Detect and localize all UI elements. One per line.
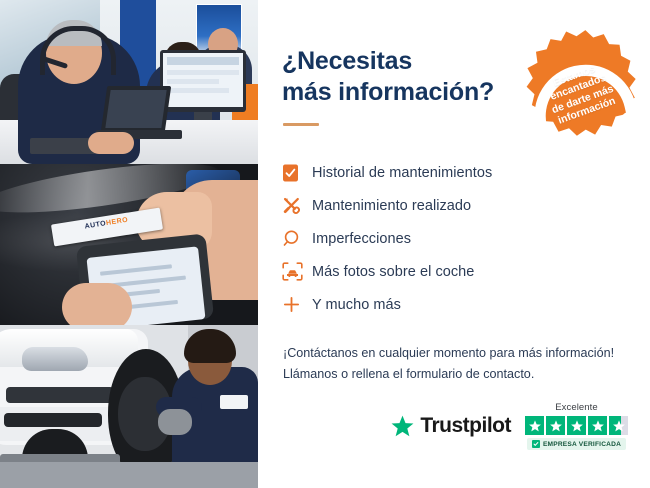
trustpilot-logo: Trustpilot (390, 414, 511, 439)
ruler-brand-auto: AUTO (84, 220, 107, 230)
agent-hand (88, 132, 134, 154)
feature-item-much-more: Y mucho más (282, 288, 624, 321)
contact-paragraph: ¡Contáctanos en cualquier momento para m… (283, 343, 624, 385)
workbench (0, 462, 258, 488)
feature-item-more-photos: Más fotos sobre el coche (282, 255, 624, 288)
monitor-screen-row (167, 79, 219, 84)
photo-call-center (0, 0, 258, 164)
feature-label: Historial de mantenimientos (312, 165, 492, 181)
feature-label: Mantenimiento realizado (312, 198, 471, 214)
front-grille (6, 387, 114, 403)
ruler-brand-hero: HERO (106, 217, 129, 227)
contact-paragraph-line-1: ¡Contáctanos en cualquier momento para m… (283, 346, 614, 360)
check-square-icon (532, 440, 540, 448)
promo-starburst-badge: Estamos encantados de darte más informac… (508, 16, 650, 158)
photo-body-inspection: AUTOHERO (0, 164, 258, 325)
star-filled (588, 416, 607, 435)
feature-label: Imperfecciones (312, 231, 411, 247)
magnifier-icon (282, 229, 312, 248)
feature-item-imperfections: Imperfecciones (282, 222, 624, 255)
monitor-screen-row (167, 70, 239, 75)
monitor-screen-row (167, 88, 229, 93)
star-partial (609, 416, 628, 435)
page-title: ¿Necesitas más información? (282, 46, 532, 107)
photo-collage: AUTOHERO (0, 0, 258, 488)
photo-wheel-inspection: AUTOHERO (0, 325, 258, 488)
star-filled (567, 416, 586, 435)
feature-item-maintenance-done: Mantenimiento realizado (282, 189, 624, 222)
star-filled (546, 416, 565, 435)
verified-badge-label: EMPRESA VERIFICADA (543, 441, 621, 448)
trustpilot-star-icon (390, 414, 415, 439)
bumper-vent (4, 413, 102, 427)
keyboard (30, 138, 96, 154)
contact-paragraph-line-2: Llámanos o rellena el formulario de cont… (283, 367, 534, 381)
feature-list: Historial de mantenimientos Mantenimient… (282, 156, 624, 321)
laptop-display (105, 90, 166, 128)
tools-icon (282, 196, 312, 215)
car-scan-icon (282, 262, 312, 281)
monitor-screen-header (167, 57, 239, 65)
plus-icon (282, 295, 312, 314)
headlight (22, 347, 88, 371)
verified-business-badge: EMPRESA VERIFICADA (527, 438, 626, 450)
headline-line-2: más información? (282, 78, 494, 106)
feature-label: Y mucho más (312, 297, 401, 313)
headline-line-1: ¿Necesitas (282, 47, 412, 75)
document-check-icon (282, 163, 312, 183)
trustpilot-widget[interactable]: Trustpilot Excelente (390, 402, 628, 450)
info-banner: AUTOHERO (0, 0, 650, 488)
feature-label: Más fotos sobre el coche (312, 264, 474, 280)
title-underline-rule (283, 123, 319, 126)
inspector-hand-holding-tablet (62, 283, 132, 325)
technician-glove (158, 409, 192, 435)
uniform-badge: AUTOHERO (220, 395, 248, 409)
star-filled (525, 416, 544, 435)
trustpilot-rating: Excelente (525, 402, 628, 450)
star-rating (525, 416, 628, 435)
content-panel: ¿Necesitas más información? Estamos enca… (258, 0, 650, 488)
rating-label: Excelente (555, 402, 598, 413)
trustpilot-wordmark: Trustpilot (420, 414, 511, 438)
